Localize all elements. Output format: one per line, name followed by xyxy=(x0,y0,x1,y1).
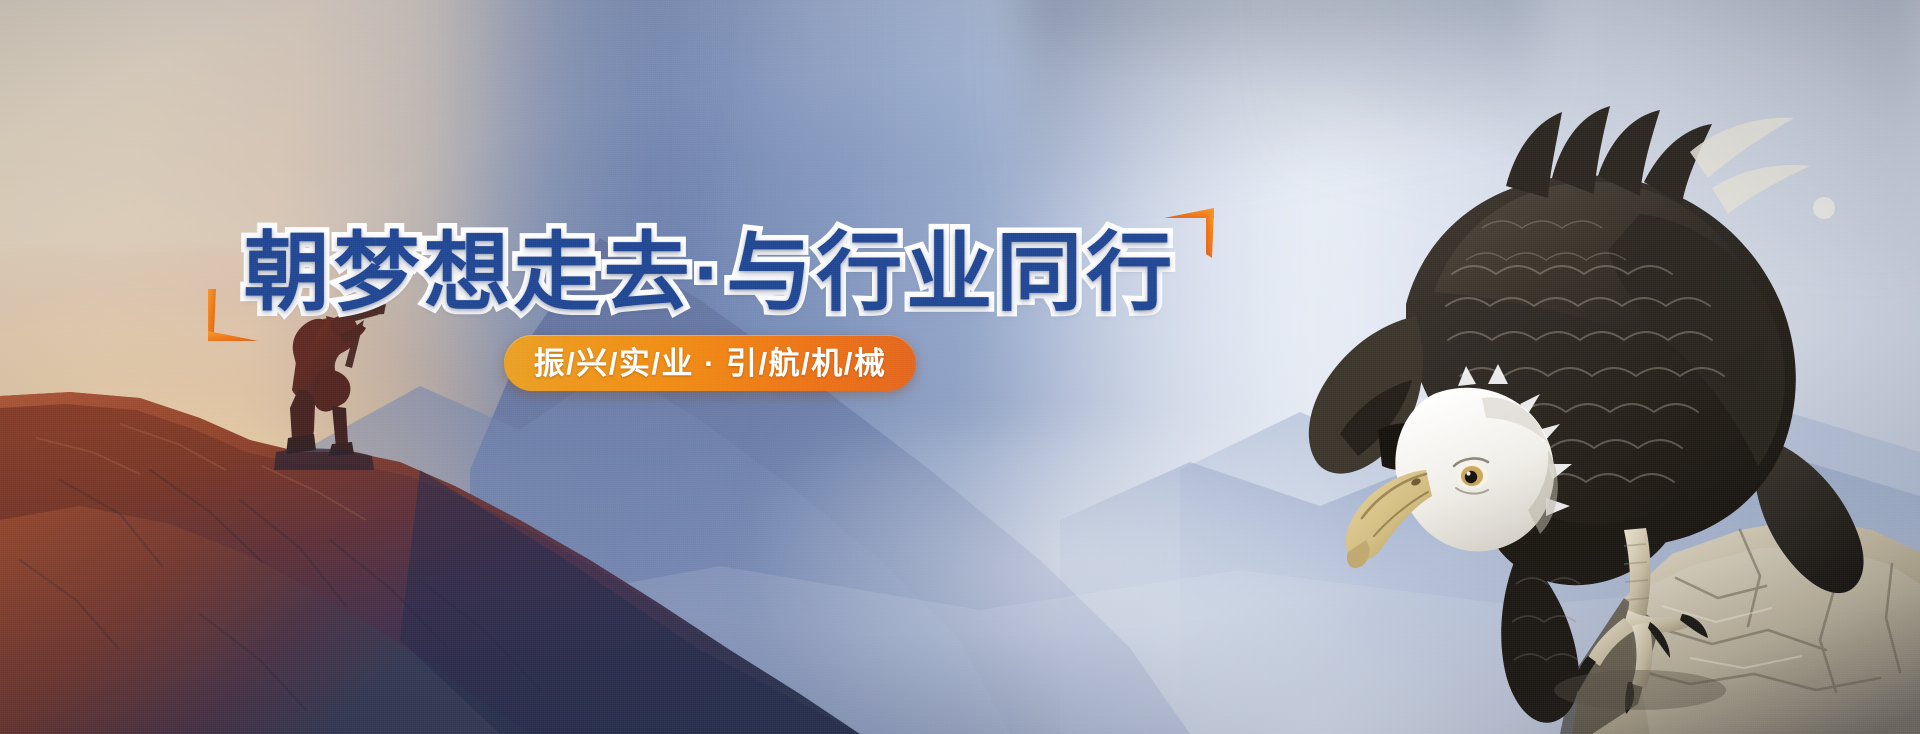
page-headline: 朝梦想走去·与行业同行 xyxy=(244,228,1177,319)
bald-eagle-illustration xyxy=(1220,78,1920,734)
hero-banner: 朝梦想走去·与行业同行 振/兴/实/业 · 引/航/机/械 xyxy=(0,0,1920,734)
subtitle-text: 振/兴/实/业 · 引/航/机/械 xyxy=(534,348,887,379)
headline-row: 朝梦想走去·与行业同行 xyxy=(202,228,1219,319)
subtitle-pill: 振/兴/实/业 · 引/航/机/械 xyxy=(504,335,917,391)
banner-text-block: 朝梦想走去·与行业同行 振/兴/实/业 · 引/航/机/械 xyxy=(0,228,1420,391)
